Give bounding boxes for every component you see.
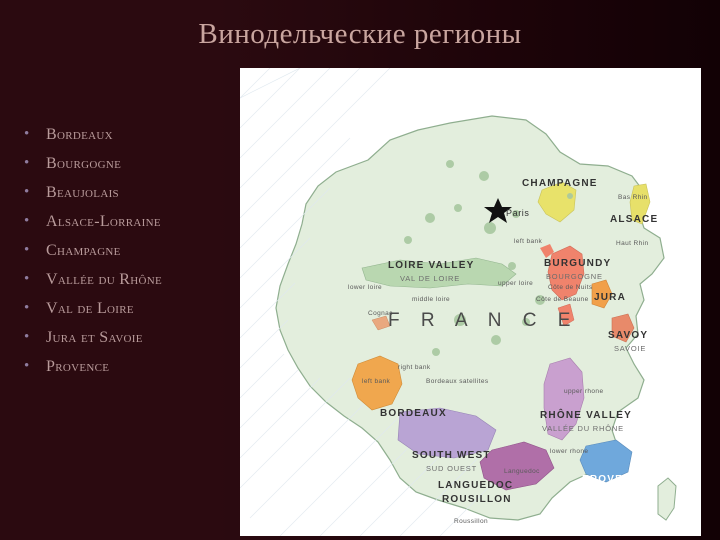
list-item-label: Beaujolais: [46, 184, 119, 201]
wine-regions-list: • Bordeaux • Bourgogne • Beaujolais • Al…: [12, 120, 237, 381]
list-item: • Val de Loire: [12, 294, 237, 323]
list-item-label: Bordeaux: [46, 126, 113, 143]
minor-label-lower-loire: lower loire: [348, 284, 382, 291]
minor-label-cote-de-beaune: Côte de Beaune: [536, 296, 589, 303]
region-label-jura: JURA: [594, 292, 626, 303]
region-label-south-west: SOUTH WEST: [412, 450, 491, 461]
list-item-label: Jura et Savoie: [46, 329, 143, 346]
region-sub-rhone-valley: VALLÉE DU RHÔNE: [542, 424, 624, 433]
minor-label-upper-loire: upper loire: [498, 280, 533, 287]
minor-label-middle-loire: middle loire: [412, 296, 450, 303]
region-label-bordeaux: BORDEAUX: [380, 408, 447, 419]
region-label-rhone-valley: RHÔNE VALLEY: [540, 410, 632, 421]
region-label-languedoc: LANGUEDOC: [438, 480, 513, 491]
page-title: Винодельческие регионы: [0, 18, 720, 51]
list-item: • Champagne: [12, 236, 237, 265]
slide: Винодельческие регионы • Bordeaux • Bour…: [0, 0, 720, 540]
region-label-savoy: SAVOY: [608, 330, 648, 341]
list-item: • Alsace-Lorraine: [12, 207, 237, 236]
list-item-label: Val de Loire: [46, 300, 134, 317]
minor-label-lower-rhone: lower rhone: [550, 448, 588, 455]
list-item-label: Vallée du Rhône: [46, 271, 162, 288]
list-item: • Bourgogne: [12, 149, 237, 178]
minor-label-languedoc: Languedoc: [504, 468, 540, 475]
minor-label-bordeaux-satellites: Bordeaux satellites: [426, 378, 489, 385]
minor-label-cote-de-nuits: Côte de Nuits: [548, 284, 593, 291]
bullet-marker: •: [24, 265, 29, 294]
region-sub-savoy: SAVOIE: [614, 344, 646, 353]
region-label-roussillon: ROUSILLON: [442, 494, 512, 505]
region-label-burgundy: BURGUNDY: [544, 258, 611, 269]
bullet-marker: •: [24, 236, 29, 265]
list-item: • Jura et Savoie: [12, 323, 237, 352]
minor-label-upper-rhone: upper rhone: [564, 388, 603, 395]
bullet-marker: •: [24, 120, 29, 149]
bullet-marker: •: [24, 323, 29, 352]
bullet-marker: •: [24, 352, 29, 381]
list-item: • Beaujolais: [12, 178, 237, 207]
list-item-label: Champagne: [46, 242, 121, 259]
list-item: • Provence: [12, 352, 237, 381]
minor-label-roussillon: Roussillon: [454, 518, 488, 525]
bullet-marker: •: [24, 149, 29, 178]
region-label-provence: PROVENCE: [582, 474, 648, 485]
minor-label-left-bank: left bank: [362, 378, 390, 385]
list-item: • Vallée du Rhône: [12, 265, 237, 294]
corsica-island: [658, 478, 676, 520]
region-label-alsace: ALSACE: [610, 214, 658, 225]
minor-label-bas-rhin: Bas Rhin: [618, 194, 648, 201]
region-label-champagne: CHAMPAGNE: [522, 178, 598, 189]
list-item-label: Bourgogne: [46, 155, 121, 172]
bullet-marker: •: [24, 294, 29, 323]
minor-label-right-bank: right bank: [398, 364, 431, 371]
list-item-label: Alsace-Lorraine: [46, 213, 161, 230]
minor-label-chablis: left bank: [514, 238, 542, 245]
bullet-marker: •: [24, 178, 29, 207]
minor-label-haut-rhin: Haut Rhin: [616, 240, 649, 247]
country-label: F R A N C E: [388, 310, 578, 332]
region-sub-burgundy: BOURGOGNE: [546, 272, 603, 281]
minor-label-cognac: Cognac: [368, 310, 393, 317]
france-wine-map: F R A N C E Paris CHAMPAGNE ALSACE Bas R…: [240, 68, 701, 536]
region-sub-loire-valley: VAL DE LOIRE: [400, 274, 460, 283]
list-item-label: Provence: [46, 358, 109, 375]
bullet-marker: •: [24, 207, 29, 236]
list-item: • Bordeaux: [12, 120, 237, 149]
capital-label: Paris: [506, 208, 530, 218]
region-label-loire-valley: LOIRE VALLEY: [388, 260, 474, 271]
region-sub-south-west: SUD OUEST: [426, 464, 477, 473]
